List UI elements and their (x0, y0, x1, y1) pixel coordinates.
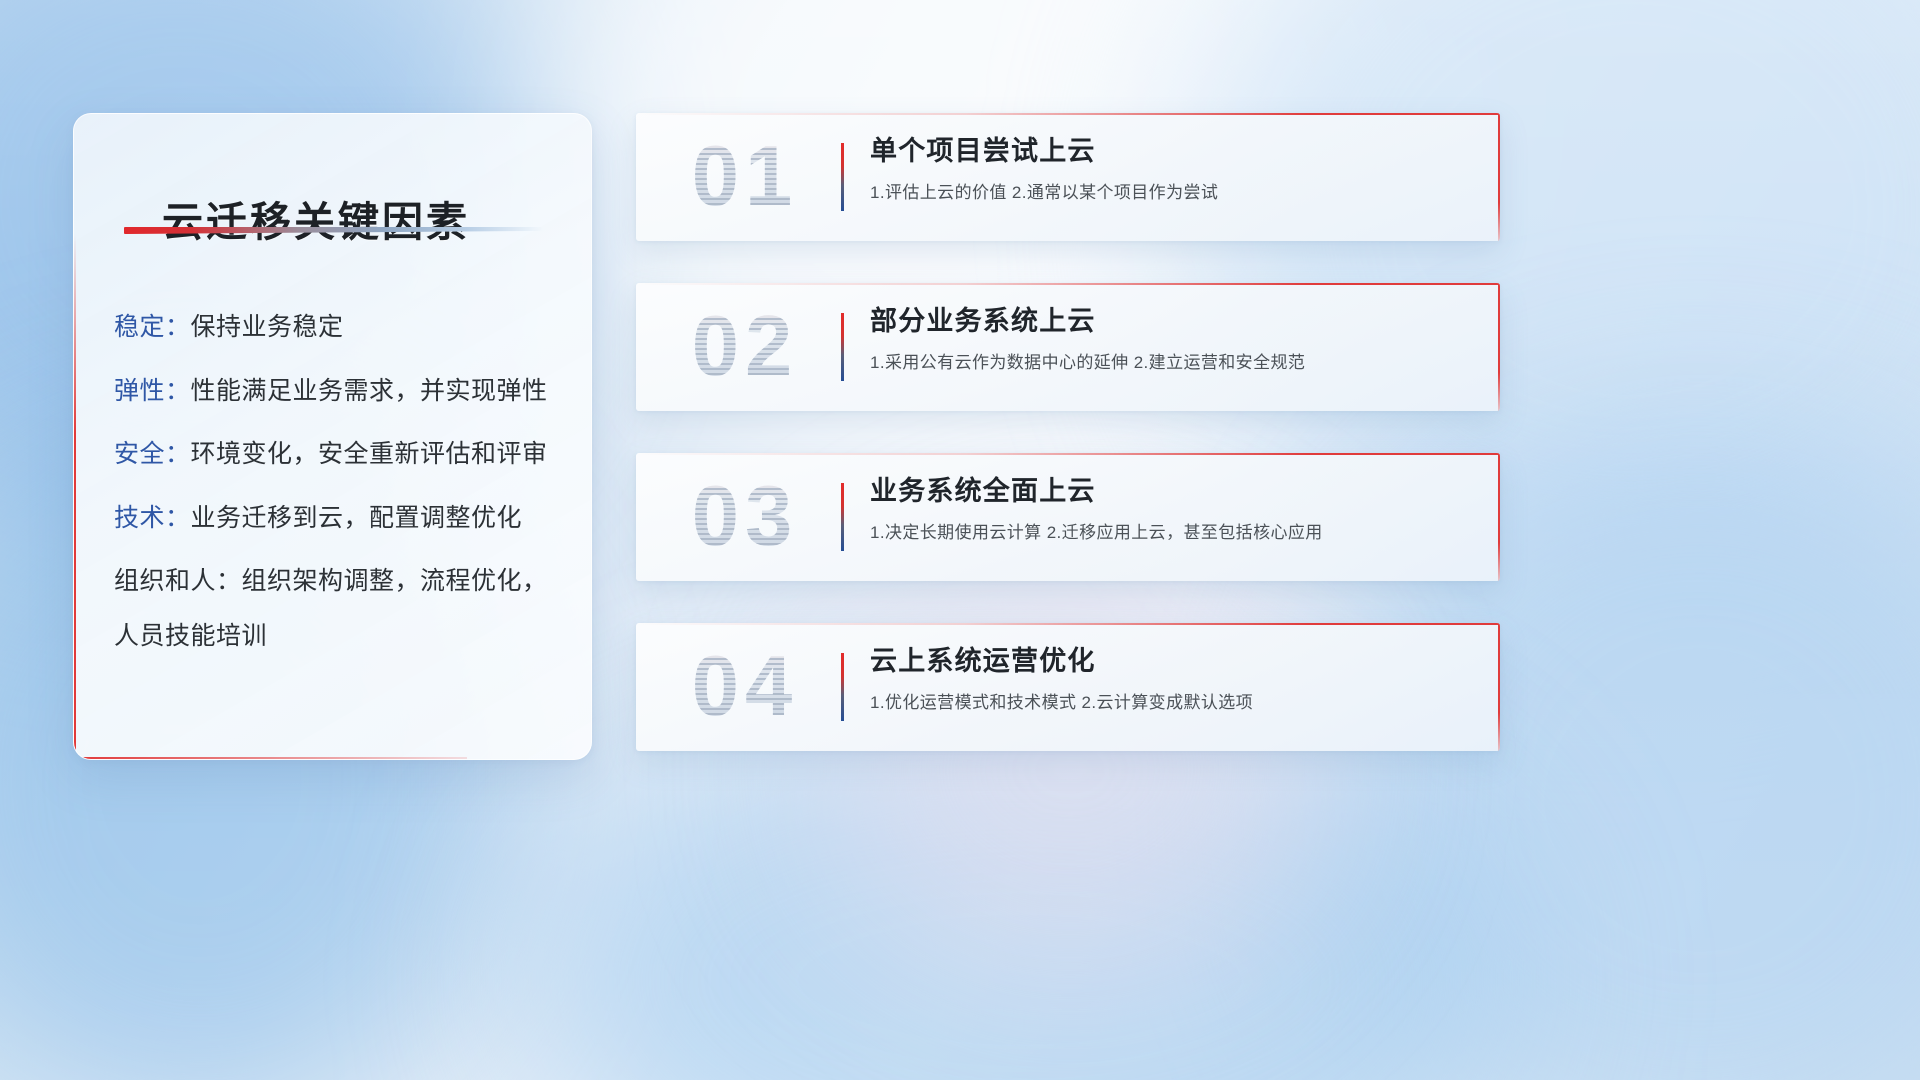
card-title: 云上系统运营优化 (870, 645, 1466, 679)
card-right-accent (1498, 623, 1500, 751)
card-title: 单个项目尝试上云 (870, 135, 1466, 169)
list-item-text: 性能满足业务需求，并实现弹性 (191, 377, 548, 405)
list-item-text: 业务迁移到云，配置调整优化 (191, 504, 523, 532)
list-item: 安全：环境变化，安全重新评估和评审 (114, 437, 569, 472)
card-top-accent (636, 453, 1500, 455)
card-description: 1.优化运营模式和技术模式 2.云计算变成默认选项 (870, 692, 1466, 714)
card-divider-bar (841, 143, 844, 211)
stage-number: 03 (660, 463, 830, 571)
card-divider-bar (841, 653, 844, 721)
list-item: 组织和人：组织架构调整，流程优化， (114, 564, 569, 599)
key-factors-list: 稳定：保持业务稳定 弹性：性能满足业务需求，并实现弹性 安全：环境变化，安全重新… (114, 310, 569, 653)
stage-card[interactable]: 01 单个项目尝试上云 1.评估上云的价值 2.通常以某个项目作为尝试 (636, 113, 1500, 241)
card-top-accent (636, 113, 1500, 115)
list-item-key: 组织和人： (114, 567, 242, 595)
card-right-accent (1498, 453, 1500, 581)
card-body: 单个项目尝试上云 1.评估上云的价值 2.通常以某个项目作为尝试 (870, 135, 1466, 204)
card-top-accent (636, 623, 1500, 625)
list-item-text: 组织架构调整，流程优化， (242, 567, 548, 595)
stage-card[interactable]: 03 业务系统全面上云 1.决定长期使用云计算 2.迁移应用上云，甚至包括核心应… (636, 453, 1500, 581)
list-item-continuation: 人员技能培训 (114, 619, 569, 654)
list-item-text: 保持业务稳定 (191, 313, 344, 341)
list-item-key: 稳定： (114, 313, 191, 341)
card-description: 1.评估上云的价值 2.通常以某个项目作为尝试 (870, 182, 1466, 204)
stage-number: 01 (660, 123, 830, 231)
stage-card[interactable]: 02 部分业务系统上云 1.采用公有云作为数据中心的延伸 2.建立运营和安全规范 (636, 283, 1500, 411)
list-item: 弹性：性能满足业务需求，并实现弹性 (114, 374, 569, 409)
card-title: 部分业务系统上云 (870, 305, 1466, 339)
list-item: 技术：业务迁移到云，配置调整优化 (114, 501, 569, 536)
card-right-accent (1498, 283, 1500, 411)
card-description: 1.决定长期使用云计算 2.迁移应用上云，甚至包括核心应用 (870, 522, 1466, 544)
page-title: 云迁移关键因素 (162, 188, 470, 248)
card-title: 业务系统全面上云 (870, 475, 1466, 509)
stage-card[interactable]: 04 云上系统运营优化 1.优化运营模式和技术模式 2.云计算变成默认选项 (636, 623, 1500, 751)
stage-number: 02 (660, 293, 830, 401)
list-item-key: 技术： (114, 504, 191, 532)
card-right-accent (1498, 113, 1500, 241)
stage-card-list: 01 单个项目尝试上云 1.评估上云的价值 2.通常以某个项目作为尝试 02 部… (636, 113, 1500, 751)
stage-number: 04 (660, 633, 830, 741)
card-description: 1.采用公有云作为数据中心的延伸 2.建立运营和安全规范 (870, 352, 1466, 374)
card-top-accent (636, 283, 1500, 285)
card-body: 业务系统全面上云 1.决定长期使用云计算 2.迁移应用上云，甚至包括核心应用 (870, 475, 1466, 544)
card-divider-bar (841, 313, 844, 381)
list-item: 稳定：保持业务稳定 (114, 310, 569, 345)
card-body: 云上系统运营优化 1.优化运营模式和技术模式 2.云计算变成默认选项 (870, 645, 1466, 714)
list-item-key: 弹性： (114, 377, 191, 405)
list-item-key: 安全： (114, 440, 191, 468)
card-body: 部分业务系统上云 1.采用公有云作为数据中心的延伸 2.建立运营和安全规范 (870, 305, 1466, 374)
key-factors-panel: 云迁移关键因素 稳定：保持业务稳定 弹性：性能满足业务需求，并实现弹性 安全：环… (73, 113, 592, 760)
card-divider-bar (841, 483, 844, 551)
list-item-text: 环境变化，安全重新评估和评审 (191, 440, 548, 468)
